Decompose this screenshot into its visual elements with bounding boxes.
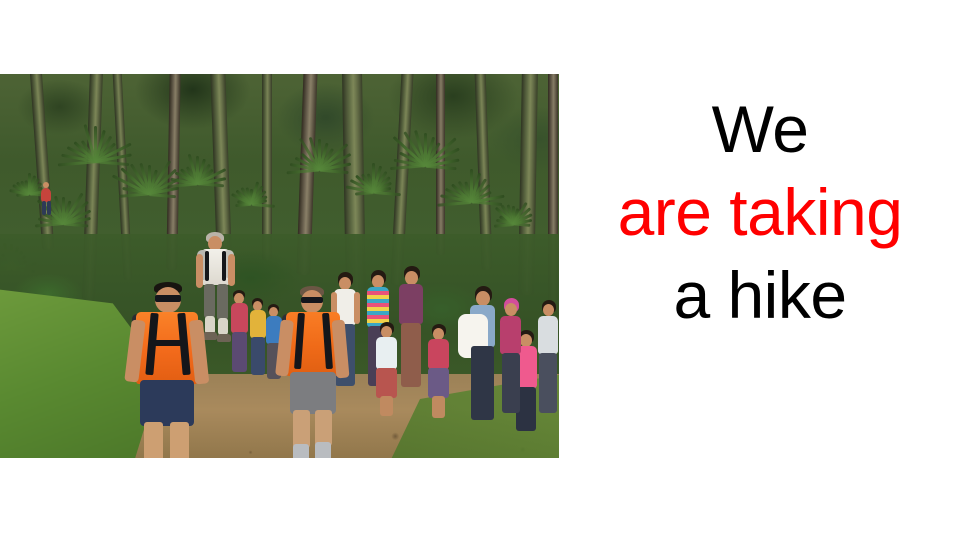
legs xyxy=(432,396,445,418)
sock xyxy=(218,318,228,335)
torso xyxy=(538,316,558,354)
slide-canvas: We are taking a hike xyxy=(0,0,960,540)
torso xyxy=(428,339,449,369)
legs xyxy=(251,337,265,375)
sock xyxy=(315,442,331,458)
chest-strap xyxy=(150,340,186,346)
legs xyxy=(380,396,393,416)
hiking-photo xyxy=(0,74,559,458)
legs xyxy=(539,353,557,413)
distant-hiker xyxy=(40,182,52,216)
legs xyxy=(471,346,494,420)
torso xyxy=(399,284,423,324)
head xyxy=(405,271,418,285)
sunglasses xyxy=(301,297,323,303)
sock xyxy=(293,444,309,458)
head xyxy=(543,304,554,316)
text-line-a-hike: a hike xyxy=(673,254,846,337)
legs xyxy=(232,332,247,372)
leg xyxy=(217,284,228,320)
legs xyxy=(401,323,421,387)
arm xyxy=(354,292,360,324)
head xyxy=(476,291,490,306)
torso xyxy=(500,316,521,354)
leg xyxy=(170,422,189,458)
crowd-person xyxy=(228,290,250,376)
shorts xyxy=(290,372,336,414)
crowd-child xyxy=(426,324,452,420)
crowd-person xyxy=(536,300,559,418)
backpack-strap xyxy=(205,251,209,281)
skirt xyxy=(376,368,397,398)
head xyxy=(505,303,517,316)
leg xyxy=(42,201,46,215)
sunglasses xyxy=(155,295,181,302)
crowd-person xyxy=(498,298,524,418)
crowd-woman-with-bundle xyxy=(466,286,500,426)
backpack-strap xyxy=(222,251,226,281)
torso xyxy=(231,303,248,333)
torso xyxy=(376,337,397,369)
leg xyxy=(144,422,163,458)
leg xyxy=(47,201,51,215)
torso xyxy=(41,188,51,202)
legs xyxy=(502,353,520,413)
crowd-person xyxy=(396,266,426,394)
text-line-are-taking: are taking xyxy=(618,171,903,254)
slide-text-block: We are taking a hike xyxy=(560,74,960,374)
skirt xyxy=(428,368,449,398)
leg xyxy=(293,410,310,448)
photo-scene xyxy=(0,74,559,458)
arm xyxy=(228,254,235,286)
leg xyxy=(315,410,332,446)
lead-hiker xyxy=(128,282,212,458)
text-line-we: We xyxy=(712,88,809,171)
shorts xyxy=(140,380,194,426)
second-hiker xyxy=(276,286,350,458)
torso-striped-top xyxy=(367,287,389,327)
crowd-child xyxy=(374,322,400,418)
tree-trunk xyxy=(262,74,272,260)
